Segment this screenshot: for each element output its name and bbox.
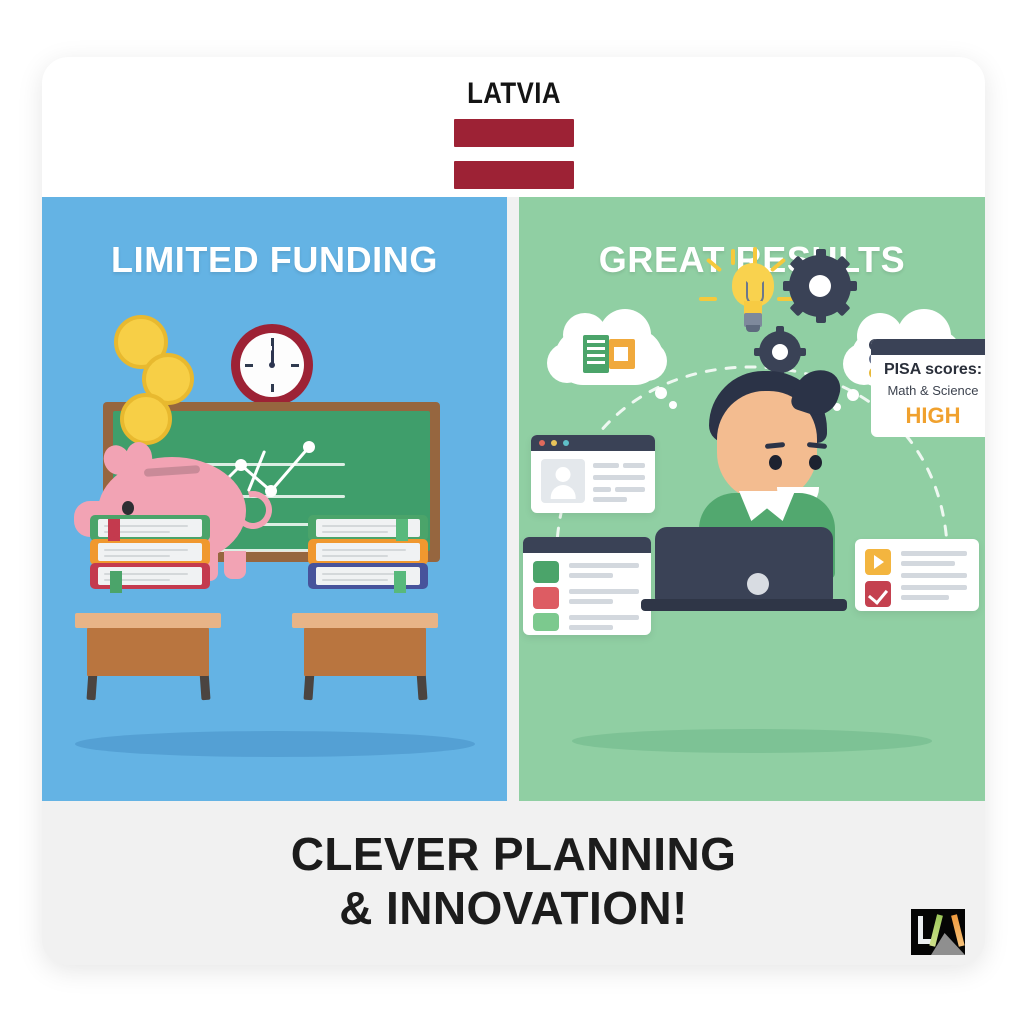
student-eye: [809, 455, 822, 470]
book-sheet: [104, 555, 170, 557]
infographic-card: LATVIA LIMITED FUNDING: [42, 57, 985, 965]
book-sheet: [104, 549, 188, 551]
text-line: [901, 551, 967, 556]
desk-top: [75, 613, 221, 628]
student-eye: [769, 455, 782, 470]
window-dot-teal: [563, 440, 569, 446]
bulb-ray: [699, 297, 717, 301]
school-desk-icon: [292, 583, 438, 701]
piggy-eye: [122, 501, 134, 515]
panel-left-title: LIMITED FUNDING: [42, 239, 507, 281]
text-line: [901, 595, 949, 600]
text-line: [901, 573, 967, 578]
color-chip-green: [533, 561, 559, 583]
text-line: [593, 463, 619, 468]
bulb-base-tip: [746, 325, 760, 332]
text-line: [569, 573, 613, 578]
pisa-score-card: PISA scores: Math & Science HIGH: [871, 339, 985, 445]
country-flag-block: LATVIA: [454, 79, 574, 189]
text-line: [569, 563, 639, 568]
window-title-bar: [871, 339, 985, 355]
lightbulb-icon: [724, 253, 782, 335]
card-header: LATVIA: [42, 57, 985, 197]
gear-icon: [789, 255, 851, 317]
caption-line-1: CLEVER PLANNING: [42, 827, 985, 881]
flag-band-top: [454, 119, 574, 147]
text-line: [901, 561, 955, 566]
text-line: [569, 599, 613, 604]
text-line: [901, 585, 967, 590]
checkmark-icon: [865, 581, 891, 607]
card-footer: CLEVER PLANNING & INNOVATION!: [42, 801, 985, 965]
clock-center-pin: [269, 362, 275, 368]
student-eyebrow: [765, 442, 785, 449]
color-chip-red: [533, 587, 559, 609]
book-orange: [90, 539, 210, 565]
text-line: [593, 487, 611, 492]
pisa-label-high: HIGH: [871, 403, 985, 429]
gold-coin-icon: [120, 393, 172, 445]
page-title: LATVIA: [462, 79, 565, 109]
flag-band-bottom: [454, 161, 574, 189]
list-card-icon: [523, 537, 651, 635]
book-orange: [308, 539, 428, 565]
infographic-canvas: LATVIA LIMITED FUNDING: [0, 0, 1024, 1024]
book-sheet: [322, 579, 388, 581]
clock-tick-6: [271, 384, 274, 392]
window-title-bar: [523, 537, 651, 553]
window-title-bar: [531, 435, 655, 451]
clock-tick-3: [291, 364, 299, 367]
book-pages: [98, 543, 202, 561]
logo-letter-v-right: [951, 914, 965, 947]
footer-caption: CLEVER PLANNING & INNOVATION!: [42, 827, 985, 936]
window-dot-red: [539, 440, 545, 446]
latvia-flag-icon: [454, 119, 574, 189]
book-green: [308, 515, 428, 541]
lv-logo: [911, 909, 965, 955]
book-sheet: [322, 525, 406, 527]
text-line: [569, 615, 639, 620]
pisa-label-scores: PISA scores:: [871, 361, 985, 379]
student-eyebrow: [807, 442, 827, 449]
laptop-screen: [655, 527, 833, 601]
text-line: [569, 625, 613, 630]
text-line: [569, 589, 639, 594]
text-line: [593, 475, 645, 480]
wall-clock-icon: [231, 324, 313, 406]
desk-top: [292, 613, 438, 628]
thought-cloud-icon: [547, 309, 671, 397]
color-chip-lightgreen: [533, 613, 559, 631]
piggy-leg: [224, 551, 246, 579]
school-desk-icon: [75, 583, 221, 701]
book-stack-icon: [308, 515, 428, 587]
media-list-card: [855, 539, 979, 611]
bookmark-red: [108, 519, 120, 541]
panel-great-results: GREAT RESULTS: [519, 197, 985, 801]
logo-letter-l: [918, 916, 923, 944]
window-dot-yellow: [551, 440, 557, 446]
panel-limited-funding: LIMITED FUNDING: [42, 197, 507, 801]
pisa-label-subjects: Math & Science: [871, 383, 985, 398]
caption-line-2: & INNOVATION!: [42, 881, 985, 935]
clock-face: [240, 333, 304, 397]
book-sheet: [322, 555, 388, 557]
floor-shadow: [75, 731, 475, 757]
text-line: [623, 463, 645, 468]
book-pages: [316, 543, 420, 561]
avatar: [541, 459, 585, 503]
book-sheet: [322, 531, 388, 533]
bookmark-green: [396, 519, 408, 541]
play-button-icon[interactable]: [865, 549, 891, 575]
desk-panel: [87, 628, 209, 676]
desk-panel: [304, 628, 426, 676]
laptop-base: [641, 599, 847, 611]
book-sheet: [322, 549, 406, 551]
clock-tick-9: [245, 364, 253, 367]
text-line: [615, 487, 645, 492]
text-line: [593, 497, 627, 502]
document-icon: [583, 335, 637, 373]
comparison-panels: LIMITED FUNDING: [42, 197, 985, 801]
laptop-logo: [747, 573, 769, 595]
book-stack-icon: [90, 515, 210, 587]
browser-window-icon: [531, 435, 655, 513]
laptop-icon: [641, 527, 847, 613]
